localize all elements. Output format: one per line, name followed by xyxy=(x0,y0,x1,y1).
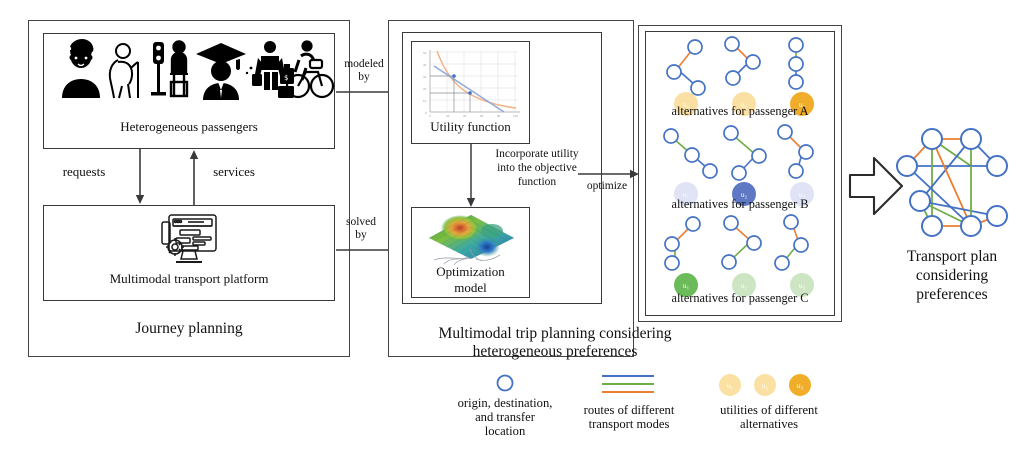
legend-label-2-line2: transport modes xyxy=(563,417,695,431)
legend-label-3-line2: alternatives xyxy=(703,417,835,431)
pedestrian-figure-icon xyxy=(170,42,188,97)
elderly-person-with-cane-icon xyxy=(110,44,138,98)
solved-by-label-line2: by xyxy=(337,229,385,242)
modeled-by-label-line1: modeled xyxy=(336,58,392,71)
utility-curve-chart-icon: 504030 20100 02040 6080100 xyxy=(420,46,522,119)
3d-surface-plot-icon xyxy=(424,211,518,266)
heterogeneous-passengers-label: Heterogeneous passengers xyxy=(43,120,335,135)
services-label: services xyxy=(200,165,268,180)
svg-text:u₃: u₃ xyxy=(797,381,804,390)
traffic-light-pedestrian-icon xyxy=(151,42,166,96)
incorporate-utility-label-line1: Incorporate utility xyxy=(478,148,596,161)
result-caption-line2: considering xyxy=(880,267,1024,284)
svg-text:40: 40 xyxy=(423,63,427,67)
alternatives-row-B: u₁ u₂ u₃ xyxy=(650,126,832,206)
svg-text:40: 40 xyxy=(463,114,467,118)
svg-text:20: 20 xyxy=(446,114,450,118)
utility-function-label: Utility function xyxy=(411,120,530,135)
computer-monitor-gear-icon xyxy=(158,212,220,267)
optimization-model-label-line1: Optimization xyxy=(411,265,530,280)
node-circle-icon xyxy=(493,373,517,397)
legend-label-2-line1: routes of different xyxy=(563,403,695,417)
svg-text:80: 80 xyxy=(497,114,501,118)
multimodal-transport-platform-label: Multimodal transport platform xyxy=(43,272,335,287)
svg-text:u₂: u₂ xyxy=(762,381,769,390)
svg-text:60: 60 xyxy=(480,114,484,118)
three-route-lines-icon xyxy=(600,372,656,398)
alternatives-row-A: u₁ u₂ u₃ xyxy=(650,33,832,113)
alternatives-row-C: u₁ u₂ u₃ xyxy=(650,219,832,299)
svg-text:10: 10 xyxy=(423,99,427,103)
svg-text:u₃: u₃ xyxy=(799,281,806,290)
svg-text:50: 50 xyxy=(423,51,427,55)
legend-label-3-line1: utilities of different xyxy=(703,403,835,417)
optimize-label: optimize xyxy=(578,180,636,193)
optimization-model-label-line2: model xyxy=(411,281,530,296)
middle-caption-line2: heterogeneous preferences xyxy=(390,343,720,360)
svg-text:u₁: u₁ xyxy=(683,281,690,290)
young-man-icon xyxy=(62,39,100,98)
result-caption-line1: Transport plan xyxy=(880,248,1024,265)
requests-label: requests xyxy=(50,165,118,180)
alternatives-label-B: alternatives for passenger B xyxy=(645,198,835,212)
transport-network-graph-icon xyxy=(896,128,1011,243)
modeled-by-label-line2: by xyxy=(336,71,392,84)
passenger-icons-row: $ xyxy=(48,38,330,100)
journey-planning-caption: Journey planning xyxy=(28,320,350,337)
result-caption-line3: preferences xyxy=(880,286,1024,303)
incorporate-utility-arrow xyxy=(463,144,479,208)
alternatives-label-A: alternatives for passenger A xyxy=(645,105,835,119)
svg-text:20: 20 xyxy=(423,87,427,91)
middle-caption-line1: Multimodal trip planning considering xyxy=(390,325,720,342)
solved-by-label-line1: solved xyxy=(337,216,385,229)
utility-circles-icon: u₁ u₂ u₃ xyxy=(712,370,822,400)
svg-text:u₂: u₂ xyxy=(741,281,748,290)
svg-text:30: 30 xyxy=(423,75,427,79)
svg-text:u₁: u₁ xyxy=(727,381,734,390)
alternatives-label-C: alternatives for passenger C xyxy=(645,292,835,306)
graduate-student-icon xyxy=(196,43,246,100)
svg-text:100: 100 xyxy=(513,114,518,118)
